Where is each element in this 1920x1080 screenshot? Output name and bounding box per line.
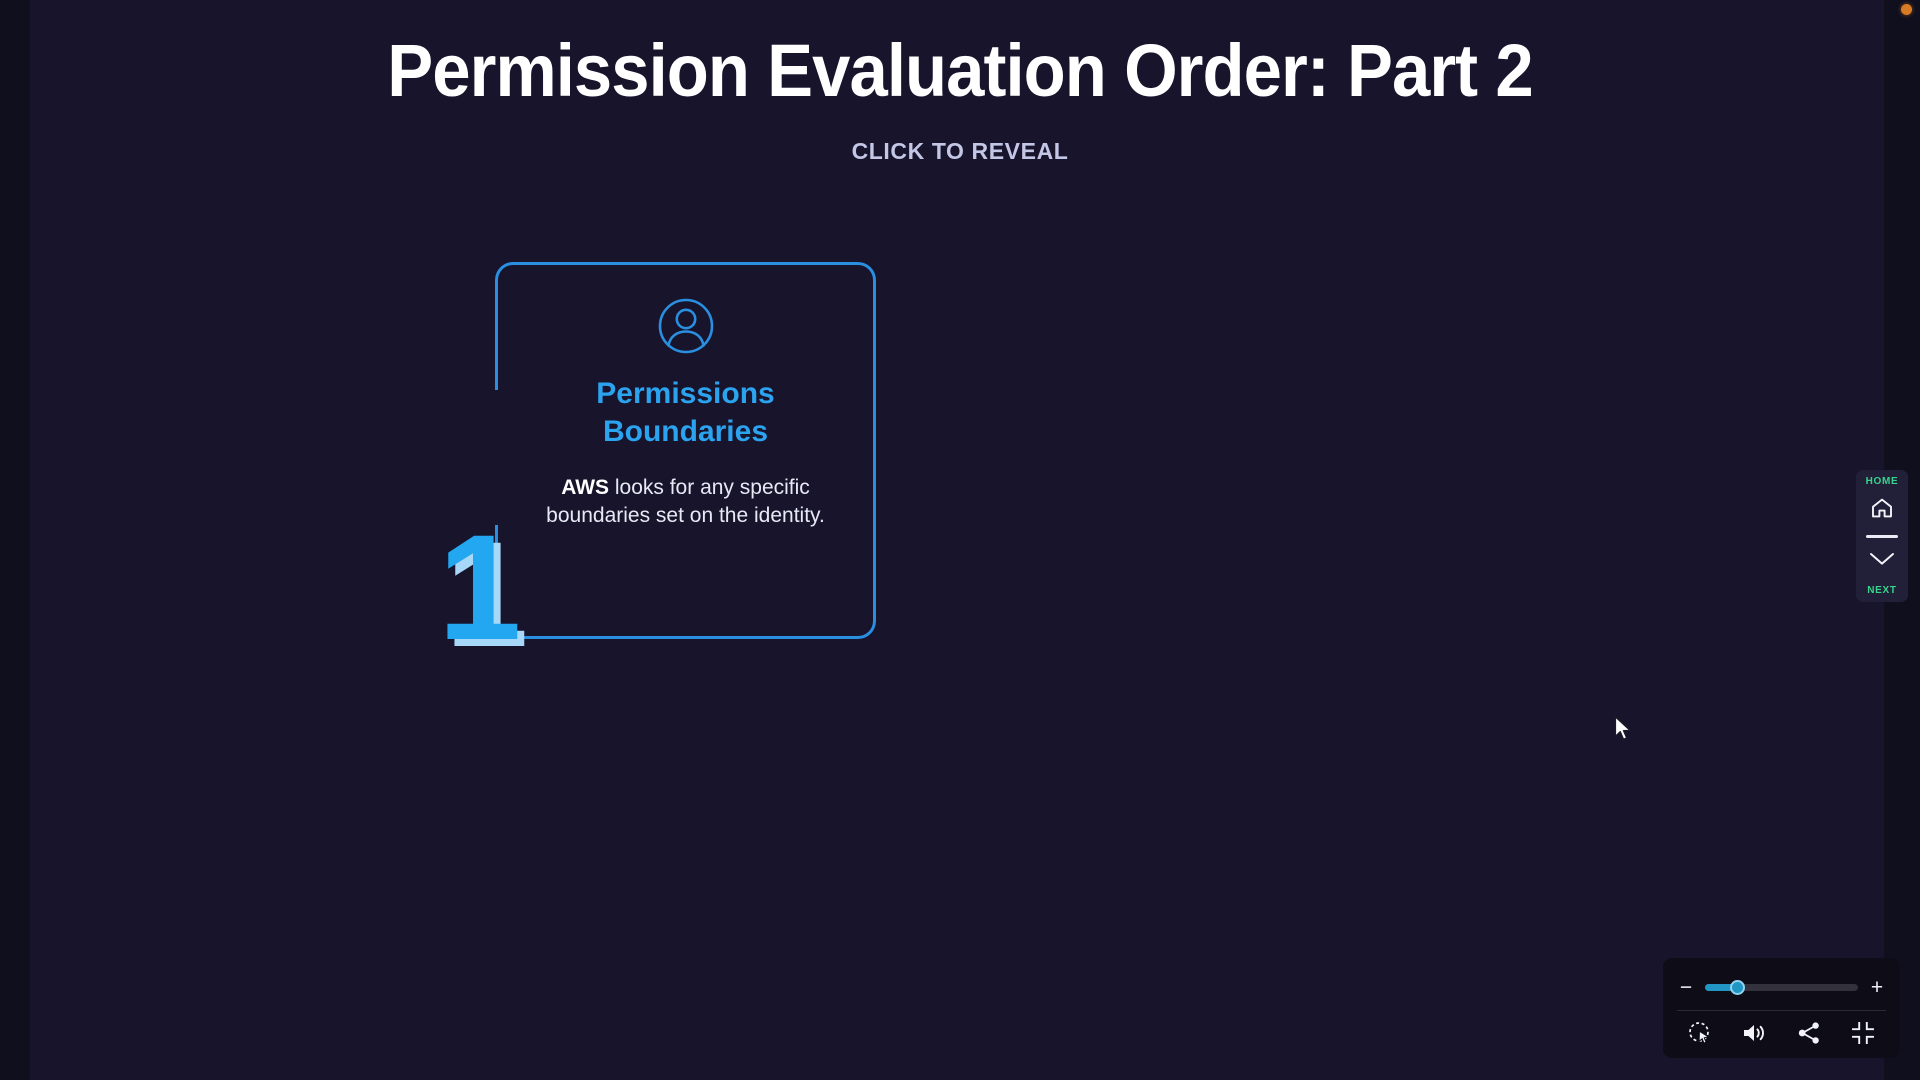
pointer-hotspot-button[interactable] (1683, 1018, 1717, 1052)
card-heading: Permissions Boundaries (566, 375, 806, 452)
volume-icon (1741, 1021, 1767, 1050)
home-button[interactable] (1862, 497, 1902, 525)
mouse-cursor (1614, 716, 1634, 747)
card-body-bold: AWS (561, 476, 609, 499)
next-label: NEXT (1867, 585, 1896, 596)
page-subtitle: CLICK TO REVEAL (0, 138, 1920, 165)
exit-fullscreen-icon (1851, 1021, 1875, 1050)
volume-button[interactable] (1737, 1018, 1771, 1052)
home-icon (1870, 497, 1894, 524)
home-label: HOME (1866, 476, 1899, 487)
reveal-card[interactable]: 1 Permissions Boundaries AWS looks for a… (438, 205, 838, 592)
user-avatar-icon (656, 296, 716, 361)
chevron-down-icon (1869, 552, 1895, 571)
presentation-stage: Permission Evaluation Order: Part 2 CLIC… (0, 0, 1920, 1080)
exit-fullscreen-button[interactable] (1846, 1018, 1880, 1052)
share-icon (1796, 1020, 1822, 1051)
pointer-hotspot-icon (1687, 1020, 1713, 1051)
toolbar-icon-row (1663, 1011, 1900, 1059)
recording-dot (1901, 4, 1912, 15)
zoom-row: − + (1663, 966, 1900, 1008)
card-body: AWS looks for any specific boundaries se… (536, 474, 836, 531)
nav-divider (1866, 535, 1898, 538)
zoom-in-button[interactable]: + (1868, 977, 1886, 998)
zoom-slider[interactable] (1705, 984, 1858, 991)
zoom-slider-handle[interactable] (1730, 980, 1745, 995)
card-number: 1 (438, 512, 519, 662)
page-title: Permission Evaluation Order: Part 2 (67, 34, 1853, 108)
zoom-out-button[interactable]: − (1677, 977, 1695, 998)
bottom-toolbar: − + (1663, 958, 1900, 1058)
card-content: Permissions Boundaries AWS looks for any… (495, 262, 876, 639)
share-button[interactable] (1792, 1018, 1826, 1052)
next-button[interactable] (1862, 547, 1902, 575)
navigation-rail: HOME NEXT (1856, 470, 1908, 602)
